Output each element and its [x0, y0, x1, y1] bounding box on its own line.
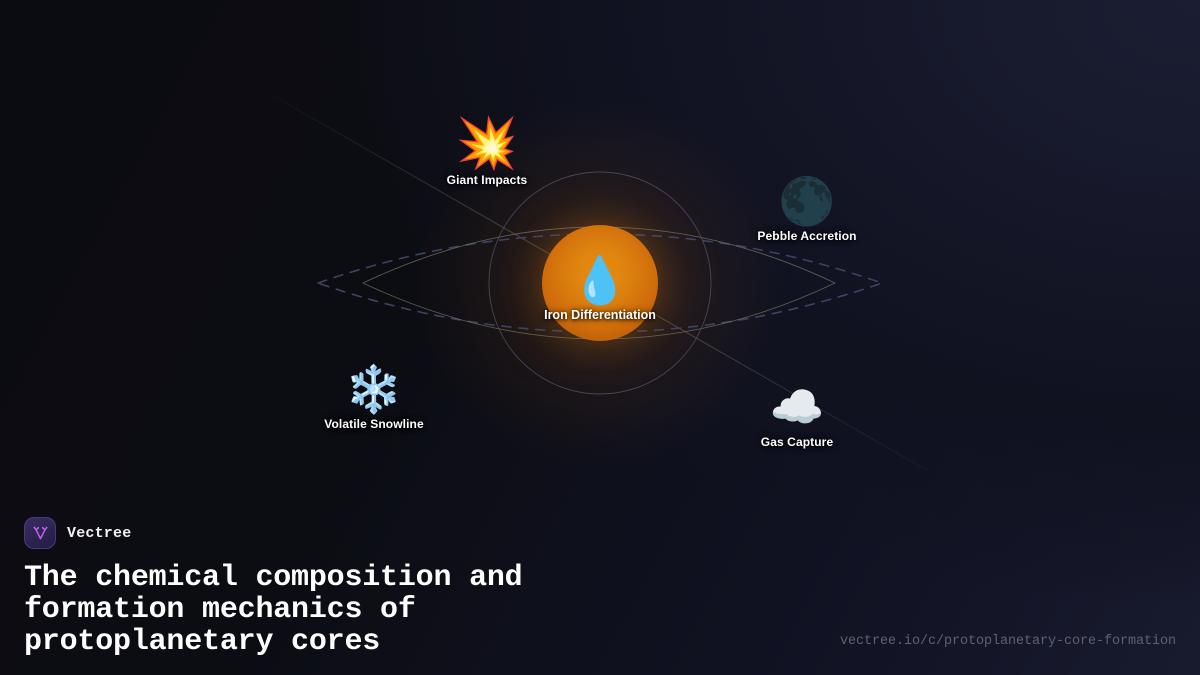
node-pebble-accretion[interactable]: 🌑 Pebble Accretion [712, 178, 902, 242]
node-giant-impacts[interactable]: 💥 Giant Impacts [392, 118, 582, 186]
node-label-pebble-accretion: Pebble Accretion [712, 230, 902, 242]
node-label-volatile-snowline: Volatile Snowline [279, 418, 469, 430]
new-moon-icon: 🌑 [712, 178, 902, 224]
footer: Vectree The chemical composition and for… [0, 490, 1200, 675]
brand-row: Vectree [24, 516, 1176, 550]
node-volatile-snowline[interactable]: ❄️ Volatile Snowline [279, 366, 469, 430]
brand-name: Vectree [67, 525, 131, 542]
source-url: vectree.io/c/protoplanetary-core-formati… [840, 634, 1176, 649]
page-title: The chemical composition and formation m… [24, 562, 784, 658]
hub-node-iron-differentiation[interactable]: 💧 [542, 225, 658, 341]
node-label-gas-capture: Gas Capture [702, 436, 892, 448]
hub-node-label: Iron Differentiation [450, 308, 750, 322]
snowflake-icon: ❄️ [279, 366, 469, 412]
collision-icon: 💥 [392, 118, 582, 168]
droplet-icon: 💧 [542, 257, 658, 303]
vectree-branching-v-icon [24, 517, 56, 549]
node-label-giant-impacts: Giant Impacts [392, 174, 582, 186]
share-card: 💧 Iron Differentiation 💥 Giant Impacts 🌑… [0, 0, 1200, 675]
node-gas-capture[interactable]: ☁️ Gas Capture [702, 386, 892, 448]
cloud-icon: ☁️ [702, 386, 892, 430]
